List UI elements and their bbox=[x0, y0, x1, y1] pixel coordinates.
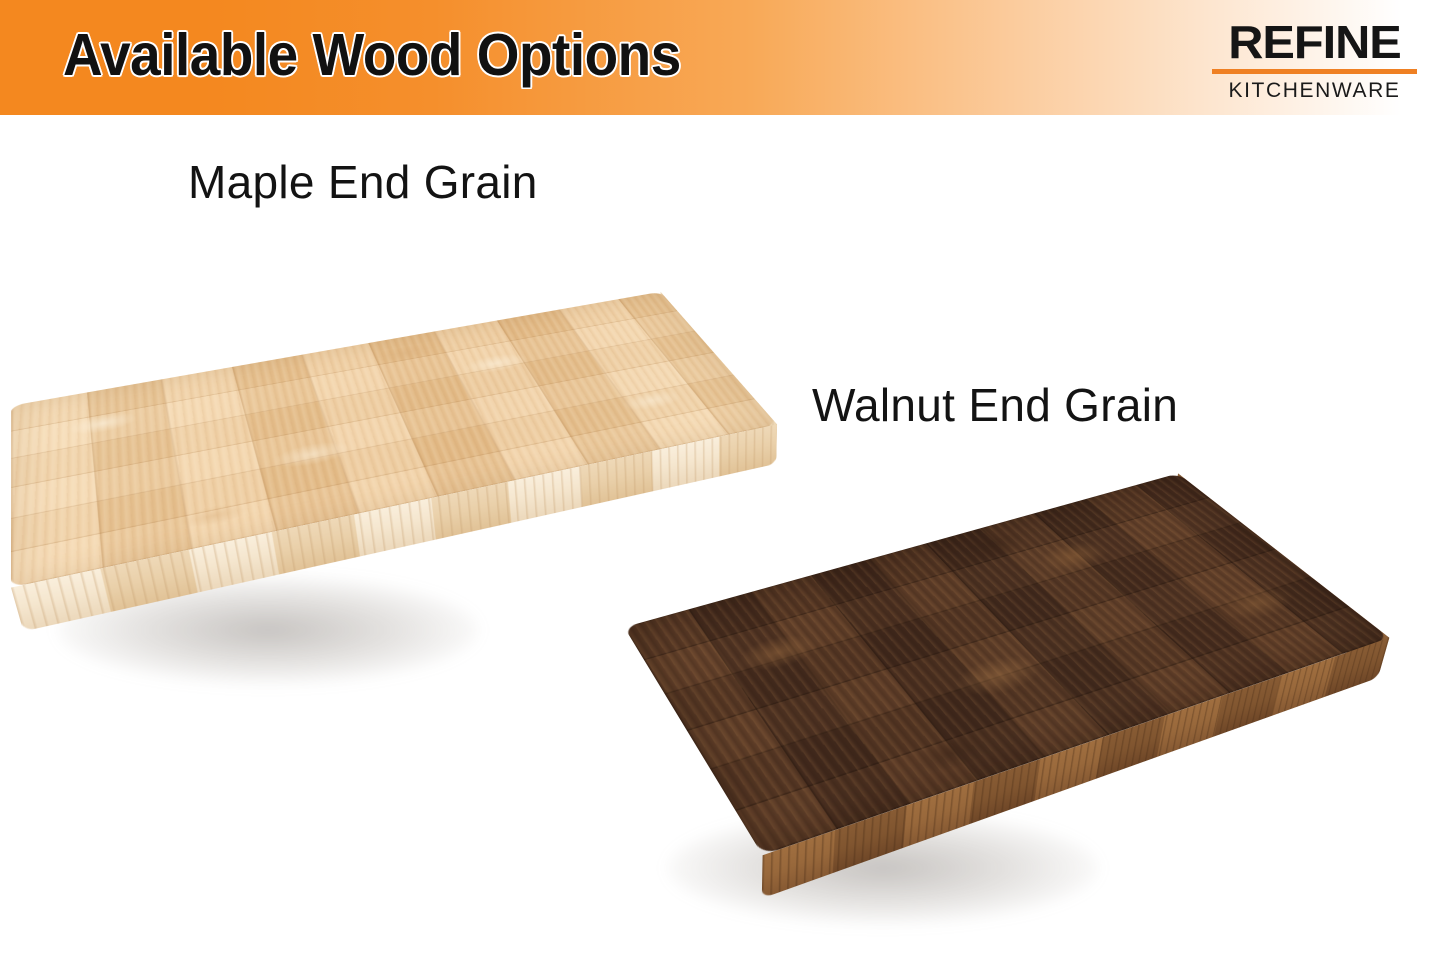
maple-product-label: Maple End Grain bbox=[188, 155, 538, 209]
walnut-board-top-surface bbox=[624, 473, 1389, 855]
logo-brand-name: REFINE bbox=[1206, 18, 1423, 66]
walnut-cutting-board bbox=[624, 473, 1389, 855]
maple-cutting-board bbox=[11, 292, 777, 588]
maple-board-right-edge bbox=[661, 292, 778, 464]
walnut-board-right-edge bbox=[1171, 473, 1389, 677]
maple-board-front-edge bbox=[11, 424, 777, 631]
maple-board-shadow bbox=[58, 576, 478, 684]
walnut-board-front-edge bbox=[762, 638, 1390, 899]
walnut-board-shadow bbox=[668, 812, 1098, 924]
maple-board-top-surface bbox=[11, 292, 777, 588]
walnut-product-label: Walnut End Grain bbox=[812, 378, 1178, 432]
logo-tagline: KITCHENWARE bbox=[1212, 79, 1417, 103]
infographic-canvas: Available Wood Options REFINE KITCHENWAR… bbox=[0, 0, 1445, 963]
product-stage bbox=[0, 0, 1445, 963]
brand-logo: REFINE KITCHENWARE bbox=[1212, 18, 1417, 103]
page-title: Available Wood Options bbox=[63, 19, 681, 91]
header-banner: Available Wood Options REFINE KITCHENWAR… bbox=[0, 0, 1445, 115]
logo-divider-rule bbox=[1212, 69, 1417, 74]
